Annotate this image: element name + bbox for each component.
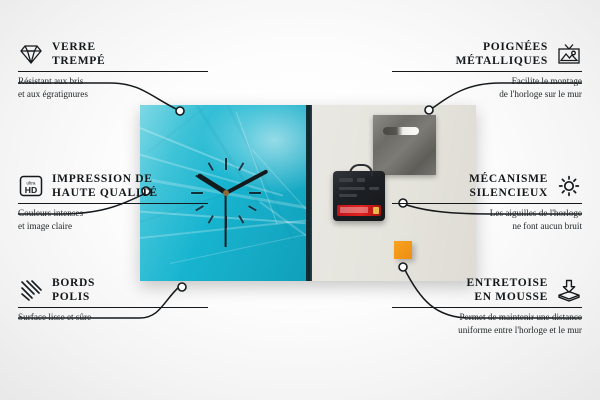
callout-title: VERRE TREMPÉ (52, 40, 105, 68)
callout-description: Résistant aux bris et aux égratignures (18, 75, 208, 100)
callout-rule (18, 71, 208, 72)
diamond-icon (18, 42, 44, 66)
svg-text:HD: HD (25, 185, 37, 195)
callout-poignees: POIGNÉES MÉTALLIQUES Facilite le montage… (392, 40, 582, 100)
callout-header: BORDS POLIS (18, 276, 208, 304)
callout-description: Permet de maintenir une distance uniform… (392, 311, 582, 336)
ultra-hd-icon: ultra HD (18, 174, 44, 198)
callout-mecanisme: MÉCANISME SILENCIEUX Les aiguilles de l'… (392, 172, 582, 232)
clock-hand-second (225, 193, 227, 247)
movement-hanger-loop (349, 164, 373, 176)
callout-description: Surface lisse et sûre (18, 311, 208, 323)
battery-label (340, 207, 368, 213)
callout-rule (392, 71, 582, 72)
polished-edges-icon (18, 278, 44, 302)
clock-battery (337, 205, 381, 216)
foam-spacer-pad (394, 241, 412, 259)
clock-center-cap (223, 190, 229, 196)
callout-rule (18, 203, 208, 204)
hanger-keyhole-slot (383, 127, 419, 135)
infographic-canvas: VERRE TREMPÉ Résistant aux bris et aux é… (0, 0, 600, 400)
callout-title: MÉCANISME SILENCIEUX (469, 172, 548, 200)
callout-description: Les aiguilles de l'horloge ne font aucun… (392, 207, 582, 232)
callout-header: ENTRETOISE EN MOUSSE (392, 276, 582, 304)
clock-movement (333, 171, 385, 221)
callout-title: IMPRESSION DE HAUTE QUALITÉ (52, 172, 158, 200)
callout-description: Facilite le montage de l'horloge sur le … (392, 75, 582, 100)
metal-hanger-plate (373, 115, 436, 175)
callout-rule (392, 203, 582, 204)
callout-header: MÉCANISME SILENCIEUX (392, 172, 582, 200)
callout-description: Couleurs intenses et image claire (18, 207, 208, 232)
callout-bords-polis: BORDS POLIS Surface lisse et sûre (18, 276, 208, 324)
callout-rule (392, 307, 582, 308)
battery-terminal (373, 207, 379, 214)
gear-icon (556, 174, 582, 198)
callout-header: VERRE TREMPÉ (18, 40, 208, 68)
callout-title: BORDS POLIS (52, 276, 95, 304)
foam-spacer-icon (556, 278, 582, 302)
callout-title: POIGNÉES MÉTALLIQUES (456, 40, 548, 68)
callout-title: ENTRETOISE EN MOUSSE (467, 276, 548, 304)
callout-impression: ultra HD IMPRESSION DE HAUTE QUALITÉ Cou… (18, 172, 208, 232)
callout-header: ultra HD IMPRESSION DE HAUTE QUALITÉ (18, 172, 208, 200)
picture-hanger-icon (556, 42, 582, 66)
callout-entretoise: ENTRETOISE EN MOUSSE Permet de maintenir… (392, 276, 582, 336)
callout-verre-trempe: VERRE TREMPÉ Résistant aux bris et aux é… (18, 40, 208, 100)
callout-rule (18, 307, 208, 308)
callout-header: POIGNÉES MÉTALLIQUES (392, 40, 582, 68)
